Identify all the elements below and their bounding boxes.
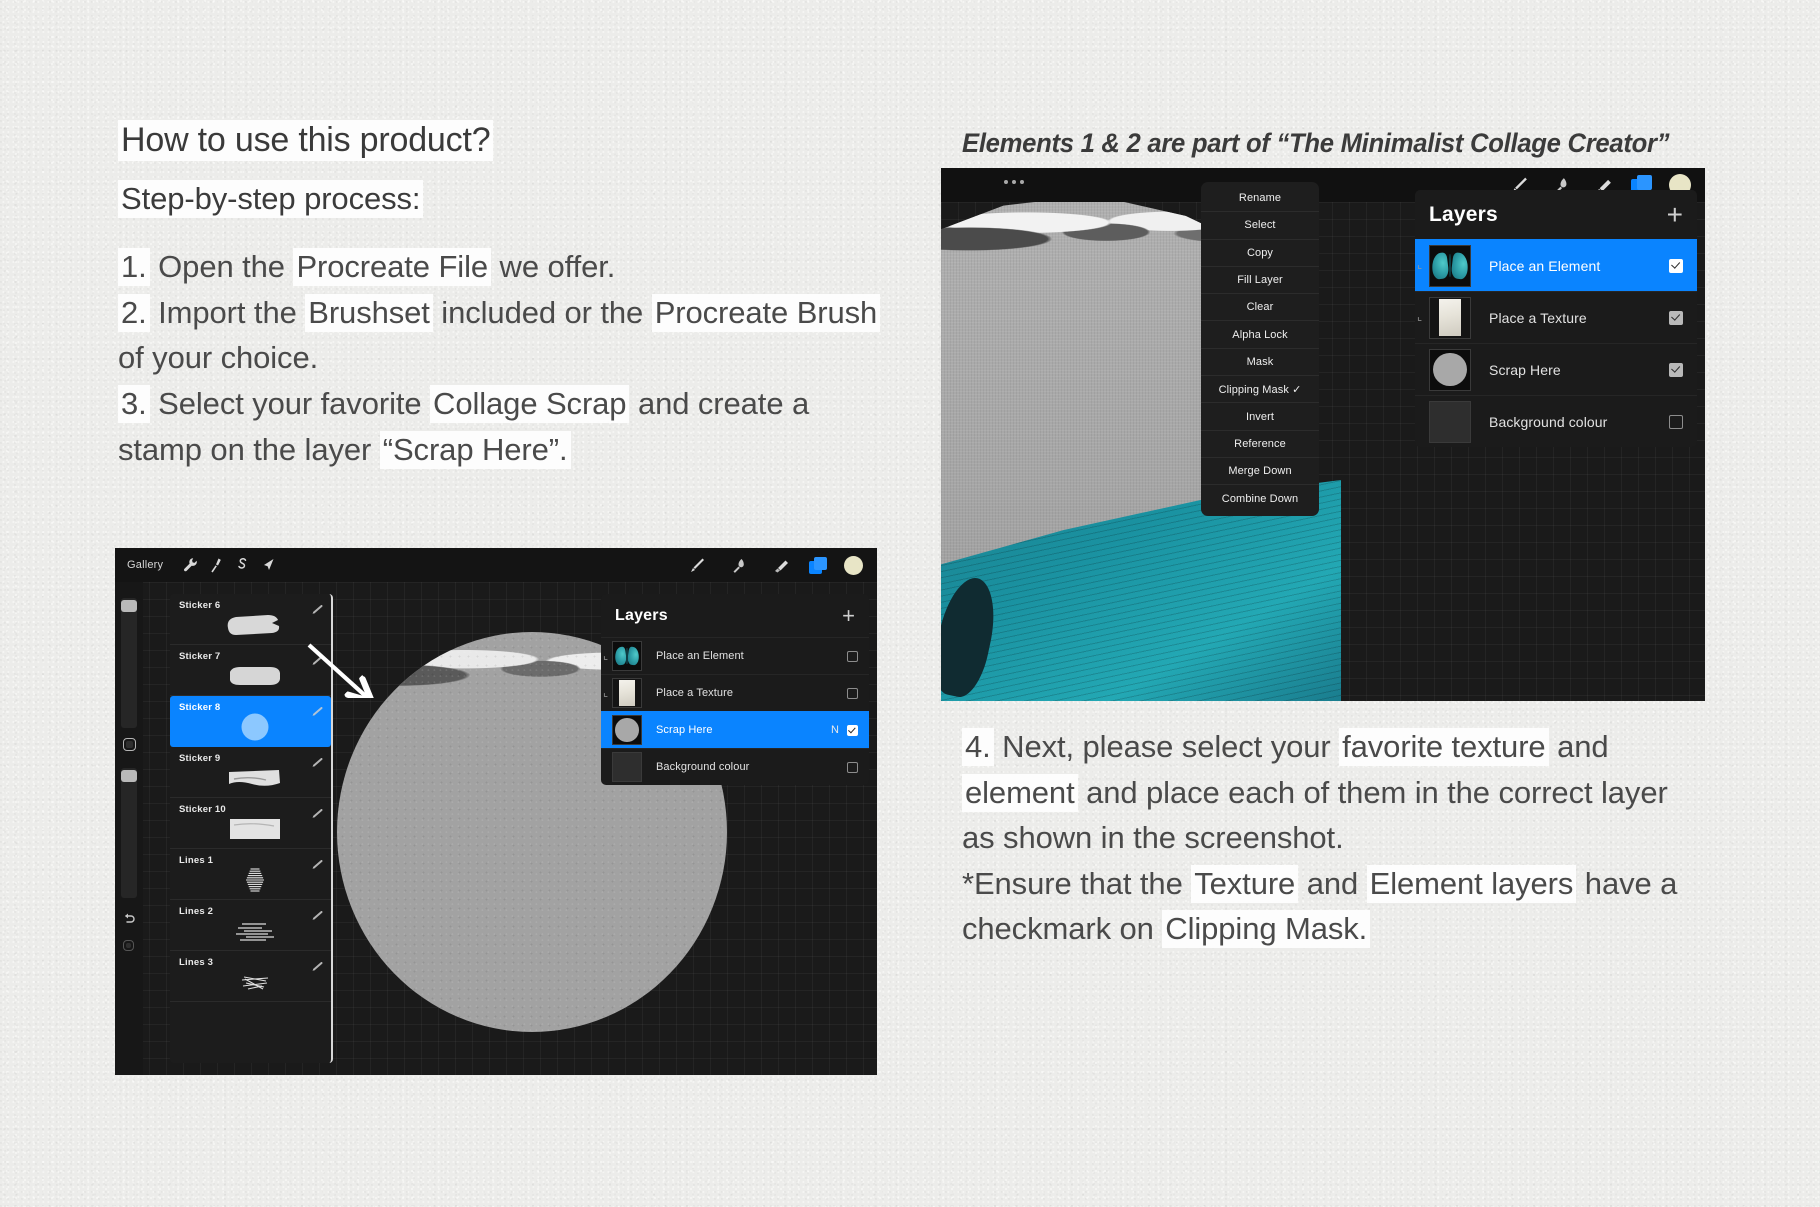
layer-row[interactable]: Background colour [1415, 395, 1697, 447]
clipping-mask-indicator-icon: ⌞ [603, 688, 608, 699]
tool-sidebar-left [115, 582, 143, 1075]
context-menu-item[interactable]: Mask [1201, 349, 1319, 376]
eraser-icon[interactable] [767, 554, 793, 576]
layers-panel-right[interactable]: Layers+⌞Place an Element⌞Place a Texture… [1415, 190, 1697, 447]
brush-preview [222, 712, 288, 742]
right-steps-list: 4. Next, please select your favorite tex… [962, 724, 1692, 952]
layer-name: Place an Element [1489, 258, 1669, 274]
brush-stroke-icon [311, 703, 323, 712]
procreate-screenshot-clipping-mask: RenameSelectCopyFill LayerClearAlpha Loc… [941, 168, 1705, 701]
layer-row[interactable]: Scrap HereN [601, 711, 869, 748]
step-paragraph: 2. Import the Brushset included or the P… [118, 290, 888, 381]
step-text: of your choice. [118, 340, 318, 375]
context-menu-item[interactable]: Copy [1201, 240, 1319, 267]
layer-visibility-checkbox[interactable] [847, 651, 858, 662]
context-menu-item[interactable]: Rename [1201, 185, 1319, 212]
brush-preview [222, 865, 288, 895]
context-menu-item[interactable]: Merge Down [1201, 458, 1319, 485]
brush-preview [222, 610, 288, 640]
step-text: we offer. [491, 249, 615, 284]
layer-thumbnail[interactable] [612, 752, 642, 782]
step-paragraph: 1. Open the Procreate File we offer. [118, 244, 888, 290]
layer-name: Scrap Here [656, 724, 831, 736]
layer-row[interactable]: ⌞Place a Texture [601, 674, 869, 711]
layer-thumbnail[interactable] [1429, 349, 1471, 391]
procreate-toolbar-left: Gallery [115, 548, 877, 582]
brush-list-item[interactable]: Sticker 7 [170, 645, 331, 696]
step-text: and [1298, 866, 1366, 901]
transform-arrow-icon[interactable] [255, 554, 281, 576]
instructions-right: 4. Next, please select your favorite tex… [962, 724, 1692, 952]
layer-name: Place a Texture [656, 687, 847, 699]
brush-list-item[interactable]: Lines 1 [170, 849, 331, 900]
step-number: 1. [118, 248, 150, 286]
layer-visibility-checkbox[interactable] [1669, 415, 1683, 429]
layer-name: Scrap Here [1489, 362, 1669, 378]
layer-thumbnail[interactable] [1429, 245, 1471, 287]
clipping-mask-indicator-icon: ⌞ [1417, 312, 1422, 323]
layer-row[interactable]: Scrap Here [1415, 343, 1697, 395]
step-highlight: “Scrap Here”. [380, 431, 571, 469]
brush-size-thumb[interactable] [121, 600, 137, 612]
brush-stroke-icon [311, 652, 323, 661]
context-menu-item[interactable]: Reference [1201, 431, 1319, 458]
brush-stroke-icon [311, 754, 323, 763]
brush-list-item[interactable]: Sticker 9 [170, 747, 331, 798]
brush-list-item[interactable]: Lines 3 [170, 951, 331, 1002]
layer-visibility-checkbox[interactable] [1669, 363, 1683, 377]
left-steps-list: 1. Open the Procreate File we offer.2. I… [118, 244, 888, 472]
layers-panel-header: Layers+ [601, 594, 869, 637]
layer-thumbnail[interactable] [612, 641, 642, 671]
brush-preview [222, 661, 288, 691]
layer-row[interactable]: ⌞Place a Texture [1415, 291, 1697, 343]
redo-placeholder-icon[interactable] [123, 940, 134, 951]
page-title-text: How to use this product? [118, 120, 493, 161]
context-menu-item[interactable]: Invert [1201, 403, 1319, 430]
step-text: Next, please select your [994, 729, 1339, 764]
brush-stroke-icon [311, 958, 323, 967]
undo-icon[interactable] [122, 912, 136, 926]
layers-title: Layers [1429, 203, 1498, 227]
context-menu-item[interactable]: Clear [1201, 294, 1319, 321]
brush-preview [222, 916, 288, 946]
step-paragraph: *Ensure that the Texture and Element lay… [962, 861, 1692, 952]
context-menu-item[interactable]: Alpha Lock [1201, 321, 1319, 348]
selection-s-icon[interactable] [229, 554, 255, 576]
brush-preview [222, 967, 288, 997]
brush-stroke-icon [311, 805, 323, 814]
brush-preview [222, 814, 288, 844]
step-paragraph: 4. Next, please select your favorite tex… [962, 724, 1692, 861]
color-swatch-icon[interactable] [844, 556, 863, 575]
gallery-button[interactable]: Gallery [127, 559, 163, 571]
step-text: and [1549, 729, 1609, 764]
step-text: Open the [150, 249, 294, 284]
layer-thumbnail[interactable] [1429, 401, 1471, 443]
brush-list-item[interactable]: Lines 2 [170, 900, 331, 951]
layer-visibility-checkbox[interactable] [1669, 311, 1683, 325]
step-highlight: Procreate File [293, 248, 491, 286]
instructions-left: How to use this product? Step-by-step pr… [118, 120, 888, 472]
step-text: Select your favorite [150, 386, 430, 421]
layer-name: Place a Texture [1489, 310, 1669, 326]
layer-visibility-checkbox[interactable] [847, 688, 858, 699]
step-highlight: Element layers [1367, 865, 1577, 903]
step-highlight: favorite texture [1339, 728, 1548, 766]
step-highlight: element [962, 774, 1078, 812]
opacity-thumb[interactable] [121, 770, 137, 782]
brush-icon[interactable] [683, 554, 709, 576]
context-menu-item[interactable]: Combine Down [1201, 485, 1319, 512]
brush-size-slider[interactable] [121, 598, 137, 728]
step-text: *Ensure that the [962, 866, 1191, 901]
clipping-mask-indicator-icon: ⌞ [603, 651, 608, 662]
layer-name: Background colour [1489, 414, 1669, 430]
toolbar-right-group-left-shot [683, 554, 877, 576]
layer-visibility-checkbox[interactable] [847, 762, 858, 773]
layer-blend-mode[interactable]: N [831, 724, 839, 736]
step-highlight: Texture [1191, 865, 1298, 903]
page-subtitle: Step-by-step process: [118, 180, 888, 218]
opacity-slider[interactable] [121, 768, 137, 898]
page-subtitle-text: Step-by-step process: [118, 180, 423, 218]
layer-row[interactable]: ⌞Place an Element [1415, 239, 1697, 291]
context-menu-item[interactable]: Fill Layer [1201, 267, 1319, 294]
step-number: 2. [118, 294, 150, 332]
page-title: How to use this product? [118, 120, 888, 161]
brush-stroke-icon [311, 907, 323, 916]
brush-list-item[interactable]: Sticker 6 [170, 594, 331, 645]
step-text: Import the [150, 295, 306, 330]
context-menu-item[interactable]: Clipping Mask ✓ [1201, 376, 1319, 403]
brush-list-item[interactable]: Sticker 8 [170, 696, 331, 747]
step-paragraph: 3. Select your favorite Collage Scrap an… [118, 381, 888, 472]
step-highlight: Clipping Mask. [1162, 910, 1370, 948]
step-highlight: Collage Scrap [430, 385, 629, 423]
modify-square-button[interactable] [123, 738, 136, 751]
layer-name: Place an Element [656, 650, 847, 662]
layer-row[interactable]: ⌞Place an Element [601, 637, 869, 674]
collage-creator-heading: Elements 1 & 2 are part of “The Minimali… [962, 128, 1669, 159]
layer-row[interactable]: Background colour [601, 748, 869, 785]
add-layer-button[interactable]: + [842, 605, 855, 627]
layers-panel-left[interactable]: Layers+⌞Place an Element⌞Place a Texture… [601, 594, 869, 785]
add-layer-button[interactable]: + [1667, 201, 1683, 229]
layers-icon[interactable] [809, 557, 828, 574]
layer-visibility-checkbox[interactable] [1669, 259, 1683, 273]
brush-stroke-icon [311, 601, 323, 610]
more-options-dots-icon[interactable] [1004, 180, 1024, 184]
layer-name: Background colour [656, 761, 847, 773]
step-highlight: Procreate Brush [652, 294, 881, 332]
step-highlight: Brushset [305, 294, 433, 332]
procreate-screenshot-brush-library: Gallery [115, 548, 877, 1075]
step-number: 3. [118, 385, 150, 423]
context-menu-item[interactable]: Select [1201, 212, 1319, 239]
wrench-icon[interactable] [177, 554, 203, 576]
layers-title: Layers [615, 607, 668, 625]
smudge-icon[interactable] [725, 554, 751, 576]
brush-stroke-icon [311, 856, 323, 865]
layer-context-menu[interactable]: RenameSelectCopyFill LayerClearAlpha Loc… [1201, 182, 1319, 516]
magic-wand-icon[interactable] [203, 554, 229, 576]
layers-panel-header: Layers+ [1415, 190, 1697, 239]
brush-preview [222, 763, 288, 793]
step-text: included or the [433, 295, 652, 330]
step-number: 4. [962, 728, 994, 766]
layer-thumbnail[interactable] [1429, 297, 1471, 339]
layer-thumbnail[interactable] [612, 678, 642, 708]
layer-thumbnail[interactable] [612, 715, 642, 745]
brush-list-item[interactable]: Sticker 10 [170, 798, 331, 849]
brush-library-panel[interactable]: Sticker 6Sticker 7Sticker 8Sticker 9Stic… [170, 594, 333, 1063]
clipping-mask-indicator-icon: ⌞ [1417, 260, 1422, 271]
layer-visibility-checkbox[interactable] [847, 725, 858, 736]
